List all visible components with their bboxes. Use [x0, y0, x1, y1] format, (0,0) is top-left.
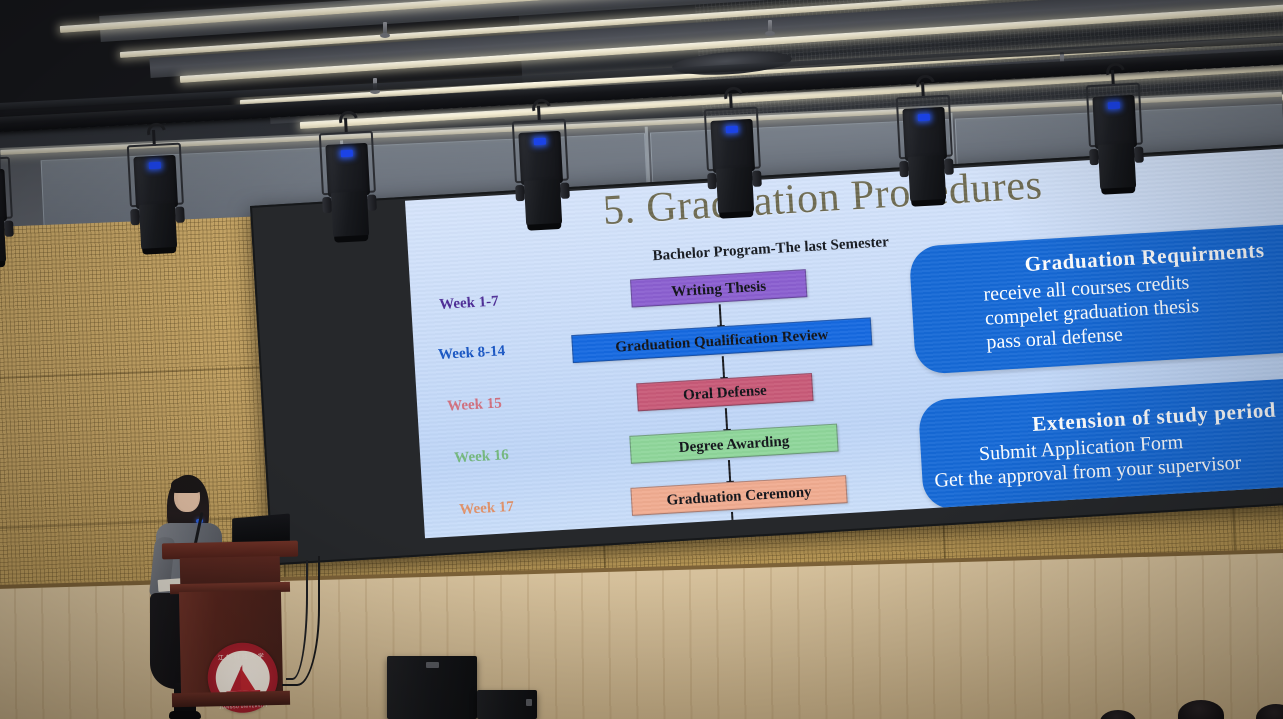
light-knob [752, 170, 762, 186]
light-barrel [331, 191, 369, 239]
light-led-indicator [149, 162, 161, 170]
light-led-indicator [918, 114, 930, 122]
week-label-2: Week 8-14 [438, 343, 506, 364]
light-barrel [1098, 143, 1136, 191]
flow-step-oral-defense: Oral Defense [636, 373, 813, 411]
presenter-shoe [169, 711, 201, 719]
light-knob [175, 206, 185, 222]
stage-speaker-1 [387, 656, 477, 719]
speaker-badge [426, 662, 439, 668]
light-knob [4, 220, 14, 236]
podium-body: 江苏科技大学 1953 JIANGSU UNIVERSITY [179, 590, 283, 696]
light-led-indicator [726, 126, 738, 134]
stage-speaker-2 [477, 690, 537, 719]
flow-arrow-1 [719, 304, 722, 326]
sprinkler-head [383, 22, 387, 35]
flow-arrow-3 [725, 408, 728, 430]
week-label-1: Week 1-7 [439, 293, 499, 314]
light-led-indicator [534, 138, 546, 146]
light-led-indicator [341, 150, 353, 158]
sailboat-icon-second-sail [240, 666, 255, 691]
light-barrel [139, 203, 177, 251]
flow-arrow-4 [728, 460, 731, 482]
light-knob [1134, 146, 1144, 162]
light-barrel [524, 179, 562, 227]
light-led-indicator [1108, 102, 1120, 110]
projection-screen: 5. Graduation Procedures Bachelor Progra… [250, 143, 1283, 566]
lecture-hall-scene: 5. Graduation Procedures Bachelor Progra… [0, 0, 1283, 719]
flow-step-graduation-ceremony: Graduation Ceremony [630, 475, 847, 516]
callout-graduation-requirements: Graduation Requirments receive all cours… [909, 219, 1283, 375]
slide-subtitle: Bachelor Program-The last Semester [652, 234, 889, 265]
flow-step-writing-thesis: Writing Thesis [630, 269, 807, 307]
week-label-4: Week 16 [454, 447, 510, 467]
light-barrel [716, 167, 754, 215]
podium-base [172, 691, 290, 707]
week-label-3: Week 15 [447, 395, 503, 415]
light-barrel [908, 155, 946, 203]
sprinkler-head [768, 20, 772, 33]
speaker-badge [526, 699, 532, 706]
podium: 江苏科技大学 1953 JIANGSU UNIVERSITY [168, 542, 292, 705]
flow-step-degree-awarding: Degree Awarding [629, 424, 838, 464]
flow-arrow-2 [722, 356, 725, 378]
callout-extension-of-study-period: Extension of study period Submit Applica… [918, 373, 1283, 511]
presenter-hair-front [171, 477, 201, 493]
week-label-5: Week 17 [459, 499, 515, 519]
light-knob [944, 158, 954, 174]
light-knob [560, 182, 570, 198]
light-knob [367, 194, 377, 210]
